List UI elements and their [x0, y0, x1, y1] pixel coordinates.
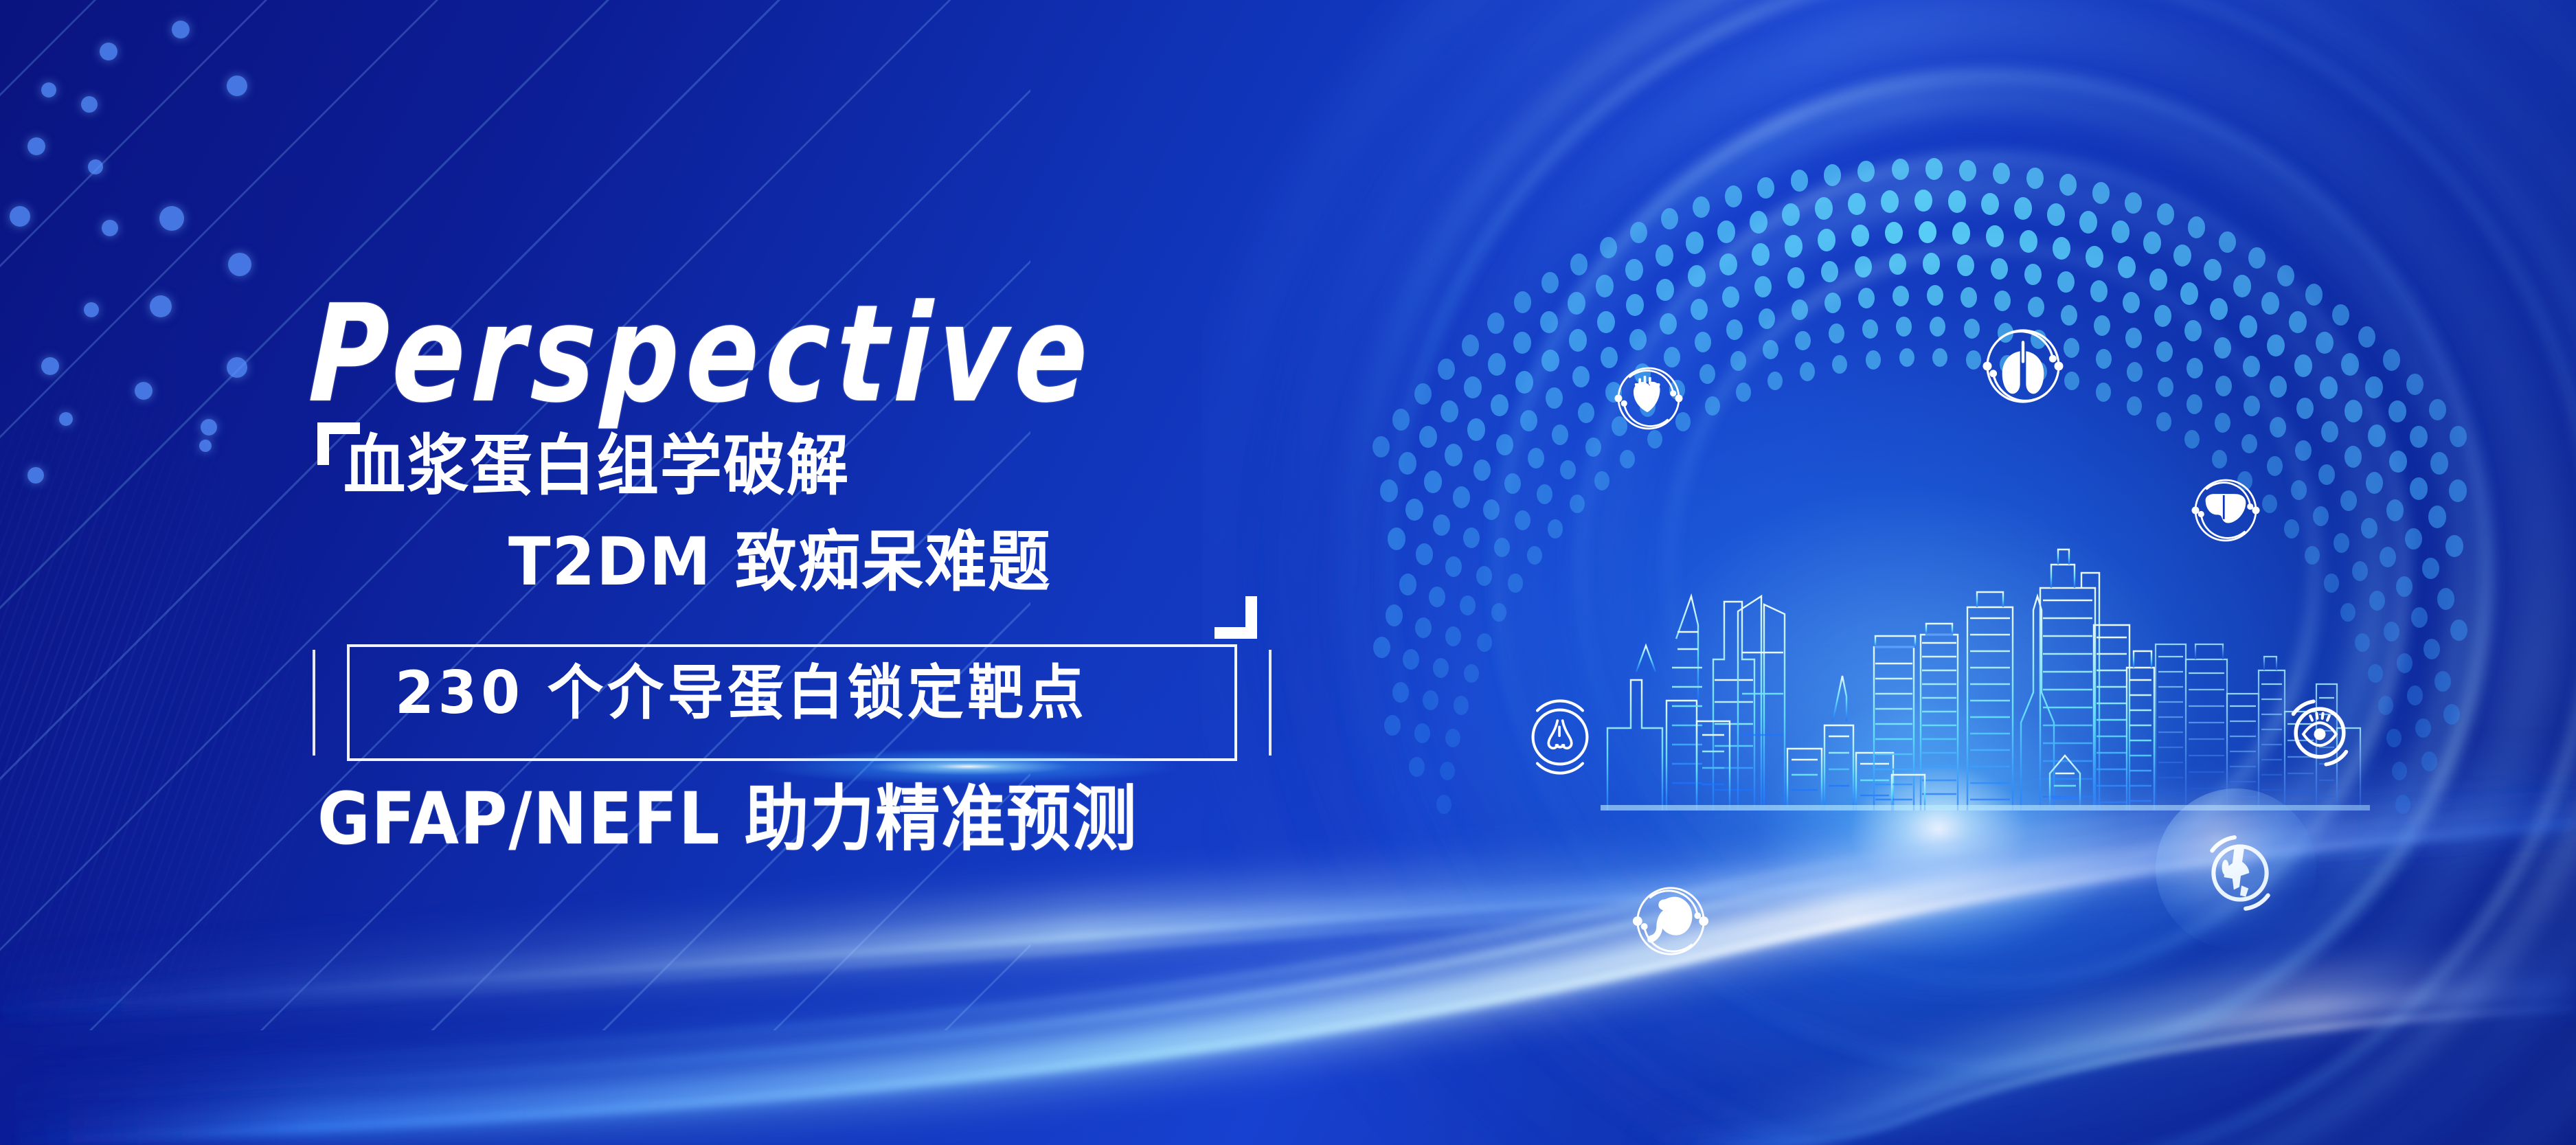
dot [2047, 203, 2065, 226]
dot [1855, 256, 1872, 277]
dot [1541, 350, 1559, 372]
dot [2428, 506, 2446, 528]
dot [1991, 258, 2008, 280]
dot [1866, 350, 1881, 370]
headline-line-2: T2DM 致痴呆难题 [508, 529, 1051, 595]
dot [1656, 245, 1673, 267]
dot [1540, 311, 1558, 334]
dot [2449, 479, 2467, 502]
dot [1763, 340, 1778, 360]
dot [1462, 335, 1479, 356]
dot [2158, 377, 2173, 397]
dot [1629, 329, 1647, 350]
dot [1832, 355, 1847, 374]
dot [1473, 460, 1491, 481]
dot [1705, 396, 1720, 416]
dot [1736, 383, 1751, 402]
dot [1440, 400, 1458, 423]
dot [2118, 256, 2136, 279]
dot [2368, 424, 2386, 447]
dot [1791, 170, 1808, 191]
dot [2028, 297, 2044, 317]
dot [1948, 190, 1966, 213]
dot [2450, 426, 2467, 447]
dot [1541, 272, 1559, 293]
dot [2239, 315, 2257, 338]
stomach-icon [1630, 881, 1711, 962]
dot [1994, 291, 2011, 311]
dot [2262, 495, 2277, 514]
dot [2267, 456, 2283, 476]
dot [2410, 477, 2428, 500]
dot [1767, 372, 1783, 391]
subline: GFAP/NEFL 助力精准预测 [317, 783, 1138, 854]
headline-line-1: 血浆蛋白组学破解 [343, 433, 850, 499]
dot [2149, 269, 2167, 291]
dot [1693, 196, 1710, 218]
dot [1504, 473, 1521, 494]
dot [1800, 362, 1815, 381]
dot [1496, 434, 1513, 455]
dot [1896, 317, 1912, 337]
stat-frame: 230 个介导蛋白锁定靶点 [313, 644, 1272, 761]
dot [1881, 190, 1899, 213]
dot [2233, 275, 2251, 297]
dot [1399, 574, 1416, 595]
joint-icon [2198, 831, 2282, 915]
dot [2389, 451, 2407, 473]
dot [1392, 409, 1410, 430]
dot [1824, 293, 1841, 313]
dot [2026, 168, 2044, 189]
dot [1964, 319, 1980, 339]
dot [1464, 376, 1482, 399]
dot [1578, 403, 1594, 423]
dot [1782, 203, 1800, 226]
dot [1513, 332, 1531, 354]
dot [2215, 376, 2232, 396]
dot [1620, 450, 1635, 469]
dot [1857, 161, 1875, 182]
dot [1660, 313, 1677, 335]
dot [2079, 211, 2097, 234]
dot [1585, 438, 1601, 457]
dot [1594, 471, 1609, 490]
dot [2383, 349, 2400, 370]
dot [2219, 231, 2236, 253]
dot [2388, 400, 2406, 423]
dot [2125, 328, 2142, 348]
dot [2092, 182, 2110, 203]
dot [2212, 450, 2227, 469]
dot [2380, 547, 2396, 567]
dot [2345, 400, 2362, 422]
dot [2187, 358, 2203, 378]
dot [1717, 220, 1735, 243]
dot [1388, 528, 1405, 550]
dot [1899, 348, 1914, 367]
dot [2277, 265, 2294, 286]
dot [2086, 246, 2103, 269]
dot [1695, 332, 1711, 352]
dot [1818, 229, 1835, 251]
dot [2345, 446, 2362, 467]
dot [1656, 279, 1674, 302]
dot [2187, 394, 2202, 414]
title-perspective: Perspective [307, 287, 1097, 422]
dot [1927, 285, 1943, 306]
dot [2248, 247, 2266, 269]
dot [2305, 284, 2323, 305]
dot [2291, 480, 2307, 500]
dot [1546, 387, 1563, 409]
dot [2188, 216, 2205, 238]
dot [1445, 556, 1462, 577]
dot [2369, 591, 2385, 611]
dot [1722, 286, 1739, 308]
dot [1597, 311, 1615, 334]
dot [1993, 163, 2010, 184]
dot [1959, 160, 1976, 181]
dot [2316, 332, 2334, 354]
dot [1596, 275, 1614, 297]
dot [1686, 231, 1704, 254]
dot [2057, 271, 2075, 293]
dot [1625, 259, 1643, 282]
bracket-bottom-right [1214, 596, 1257, 639]
dot [2437, 588, 2454, 609]
dot [2386, 499, 2404, 521]
dot [1688, 265, 1706, 288]
dot [1537, 484, 1552, 504]
dot [1488, 353, 1506, 376]
dot [2243, 356, 2260, 377]
dot [1750, 211, 1767, 234]
dot [1691, 299, 1708, 320]
dot [1787, 267, 1805, 288]
dot [1862, 319, 1878, 339]
dot [1923, 253, 1940, 274]
dot [2204, 259, 2222, 282]
dot [1372, 436, 1390, 457]
frame-tick-right [1269, 650, 1272, 756]
dot [1476, 566, 1492, 586]
dot [1957, 255, 1974, 276]
dot [2270, 376, 2287, 397]
dot [2112, 220, 2129, 243]
dot [1792, 299, 1808, 320]
dot [1527, 546, 1542, 565]
dot [1570, 253, 1588, 275]
dot [1520, 410, 1537, 431]
dot [2123, 292, 2140, 313]
dot [2270, 417, 2286, 438]
dot [2320, 376, 2338, 399]
dot [2090, 280, 2108, 302]
dot [1759, 308, 1775, 329]
dot [1570, 495, 1585, 514]
dot [2180, 282, 2198, 305]
dot [1487, 313, 1504, 334]
dot [2366, 472, 2383, 493]
dot [2014, 197, 2032, 220]
dot [2024, 264, 2042, 285]
dot [2244, 396, 2260, 416]
dot [1491, 394, 1509, 417]
dot [2143, 231, 2161, 254]
dot [2318, 464, 2335, 485]
dot [2156, 341, 2173, 362]
dot [1514, 291, 1531, 313]
dot [2294, 354, 2312, 377]
dot [1424, 471, 1442, 493]
dot [2184, 430, 2200, 449]
dot [2396, 576, 2413, 597]
dot [1626, 294, 1644, 317]
dot [1726, 319, 1743, 340]
dot [1815, 197, 1833, 220]
dot [1848, 193, 1866, 216]
dot [2267, 335, 2285, 357]
dot [1560, 460, 1576, 480]
dot [2429, 399, 2446, 420]
dot [2405, 528, 2422, 549]
dot [2430, 452, 2448, 475]
banner-root: Perspective 血浆蛋白组学破解 T2DM 致痴呆难题 230 个介导蛋… [0, 0, 2576, 1145]
dot [2020, 230, 2037, 253]
dot [1725, 185, 1742, 207]
lungs-icon [1978, 321, 2068, 411]
dot [1414, 383, 1432, 405]
dot [2445, 535, 2463, 558]
dot [2215, 413, 2230, 433]
dot [1932, 348, 1947, 367]
dot [1494, 538, 1510, 558]
dot [1630, 222, 1647, 243]
dot [1515, 510, 1530, 530]
dot [1453, 486, 1470, 508]
dot [1572, 366, 1590, 387]
dot [1829, 324, 1844, 343]
dot [2096, 383, 2111, 402]
dot [2295, 440, 2312, 461]
dot [1785, 235, 1803, 258]
dot [1445, 444, 1462, 466]
dot [1952, 222, 1970, 245]
dot [2296, 398, 2314, 419]
dot [1515, 371, 1533, 394]
dot [1858, 288, 1875, 308]
dot [1925, 158, 1943, 179]
dot [2127, 396, 2142, 416]
dot [2365, 376, 2383, 399]
dot [1730, 351, 1746, 371]
dot [1569, 329, 1587, 352]
dot [1600, 237, 1617, 258]
liver-icon [2188, 473, 2263, 548]
dot [1548, 519, 1563, 539]
dot [2156, 412, 2171, 431]
dot [1930, 317, 1945, 337]
dot [2173, 245, 2191, 267]
dot [2358, 326, 2375, 348]
dot [1419, 426, 1437, 449]
dot [1919, 221, 1936, 244]
dot [1914, 190, 1932, 212]
dot [2261, 292, 2279, 315]
dot [1433, 514, 1450, 536]
dot [1552, 424, 1568, 445]
dot [2341, 353, 2359, 376]
dot [1885, 222, 1903, 245]
dot [2422, 558, 2439, 579]
dot [1380, 479, 1398, 502]
dot [1754, 276, 1772, 297]
dot [1719, 253, 1737, 276]
dot [1467, 418, 1485, 441]
dot [2210, 298, 2228, 321]
dot [1438, 359, 1455, 380]
text-block: Perspective 血浆蛋白组学破解 T2DM 致痴呆难题 230 个介导蛋… [0, 0, 1305, 1145]
dot [1986, 225, 2004, 248]
dot [2410, 426, 2428, 449]
dot [1399, 452, 1416, 475]
dot [1961, 287, 1977, 308]
dot [1460, 596, 1476, 615]
dot [1752, 243, 1770, 266]
dot [1429, 587, 1445, 607]
dot [1508, 574, 1523, 593]
dot [1416, 543, 1433, 565]
dot [2059, 174, 2077, 195]
dot [1893, 286, 1909, 306]
dot [1568, 292, 1585, 315]
dot [2406, 374, 2424, 395]
dot [2053, 237, 2070, 260]
dot [1405, 499, 1423, 521]
dot [1851, 225, 1869, 247]
highlight-stat: 230 个介导蛋白锁定靶点 [395, 664, 1087, 723]
dot [1528, 448, 1544, 468]
dot [2321, 421, 2338, 442]
dot [2184, 320, 2202, 341]
dot [2157, 203, 2174, 225]
dot [2340, 490, 2357, 511]
heart-icon [1611, 361, 1686, 436]
dot [2289, 311, 2307, 334]
dot [1463, 528, 1480, 548]
dot [2154, 305, 2171, 326]
dot [1821, 261, 1838, 282]
dot [2125, 192, 2142, 214]
eye-icon [2282, 695, 2358, 771]
dot [2214, 337, 2231, 359]
dot [2094, 315, 2110, 336]
dot [1699, 364, 1715, 384]
frame-tick-left [313, 650, 315, 756]
dot [2096, 349, 2112, 369]
dot [1892, 159, 1909, 180]
dot [1889, 253, 1906, 275]
dot [1795, 331, 1811, 351]
dot [1483, 499, 1500, 520]
dot [1661, 208, 1678, 229]
nose-icon [1522, 699, 1598, 775]
dot [2127, 362, 2143, 382]
dot [1981, 193, 1999, 216]
dot [1824, 164, 1841, 185]
dot [1757, 177, 1774, 199]
dot [2241, 434, 2257, 454]
dot [2332, 304, 2349, 326]
